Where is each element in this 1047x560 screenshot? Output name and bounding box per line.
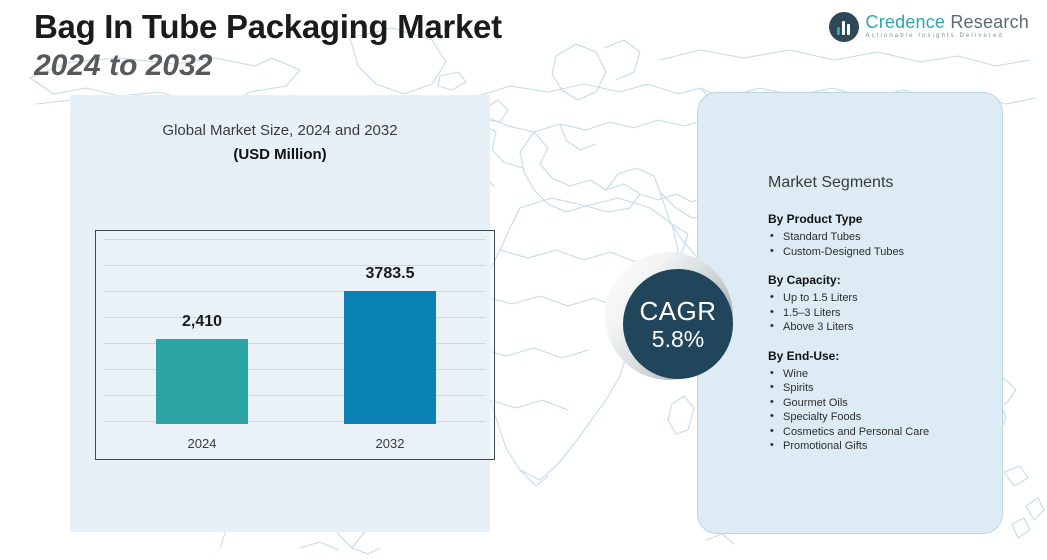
brand-logo[interactable]: Credence Research Actionable Insights De… [829,12,1030,42]
segment-item: Spirits [768,381,998,396]
segment-group: By End-Use:WineSpiritsGourmet OilsSpecia… [768,348,998,454]
segment-group-heading: By Capacity: [768,272,998,288]
segment-item-list: Standard TubesCustom-Designed Tubes [768,230,998,259]
cagr-value: 5.8% [652,326,704,352]
segment-item: Wine [768,367,998,382]
logo-text-block: Credence Research Actionable Insights De… [866,13,1030,41]
chart-title: Global Market Size, 2024 and 2032 [70,120,490,142]
segment-item: Cosmetics and Personal Care [768,425,998,440]
logo-tagline: Actionable Insights Delivered [866,32,1030,41]
page-title: Bag In Tube Packaging Market 2024 to 203… [34,8,502,84]
cagr-badge: CAGR 5.8% [605,252,750,397]
chart-heading: Global Market Size, 2024 and 2032 (USD M… [70,120,490,166]
logo-name: Credence Research [866,13,1030,32]
segment-item: Promotional Gifts [768,439,998,454]
segment-group-heading: By End-Use: [768,348,998,364]
bar-value-label: 3783.5 [366,265,415,283]
bar-value-label: 2,410 [182,313,222,331]
bar-chart-circle-icon [829,12,859,42]
segment-group: By Capacity:Up to 1.5 Liters1.5–3 Liters… [768,272,998,335]
segment-item-list: WineSpiritsGourmet OilsSpecialty FoodsCo… [768,367,998,454]
bar-2024: 2,4102024 [156,339,248,424]
market-segments: Market Segments By Product TypeStandard … [768,172,998,454]
title-main: Bag In Tube Packaging Market [34,8,502,46]
market-segments-title: Market Segments [768,172,998,194]
bar-2032: 3783.52032 [344,291,436,424]
logo-name-primary: Credence [866,12,946,32]
bar-fill [156,339,248,424]
infographic-canvas: Bag In Tube Packaging Market 2024 to 203… [0,0,1047,560]
segment-item: Above 3 Liters [768,320,998,335]
bar-fill [344,291,436,424]
logo-bars [837,20,850,35]
segment-item: Specialty Foods [768,410,998,425]
segment-item: Standard Tubes [768,230,998,245]
segment-group-heading: By Product Type [768,211,998,227]
segment-item: 1.5–3 Liters [768,306,998,321]
segment-item: Custom-Designed Tubes [768,245,998,260]
segment-item-list: Up to 1.5 Liters1.5–3 LitersAbove 3 Lite… [768,291,998,335]
bar-chart: 2,41020243783.52032 [95,230,495,460]
title-subtitle-years: 2024 to 2032 [34,48,502,84]
segment-group-list: By Product TypeStandard TubesCustom-Desi… [768,211,998,454]
segment-item: Up to 1.5 Liters [768,291,998,306]
logo-name-secondary: Research [945,12,1029,32]
segment-item: Gourmet Oils [768,396,998,411]
bar-category-label: 2024 [188,436,217,451]
cagr-label: CAGR [639,297,716,325]
chart-plot-area: 2,41020243783.52032 [96,231,494,459]
cagr-disc: CAGR 5.8% [623,269,733,379]
chart-subtitle-units: (USD Million) [70,144,490,166]
segment-group: By Product TypeStandard TubesCustom-Desi… [768,211,998,259]
bar-category-label: 2032 [376,436,405,451]
